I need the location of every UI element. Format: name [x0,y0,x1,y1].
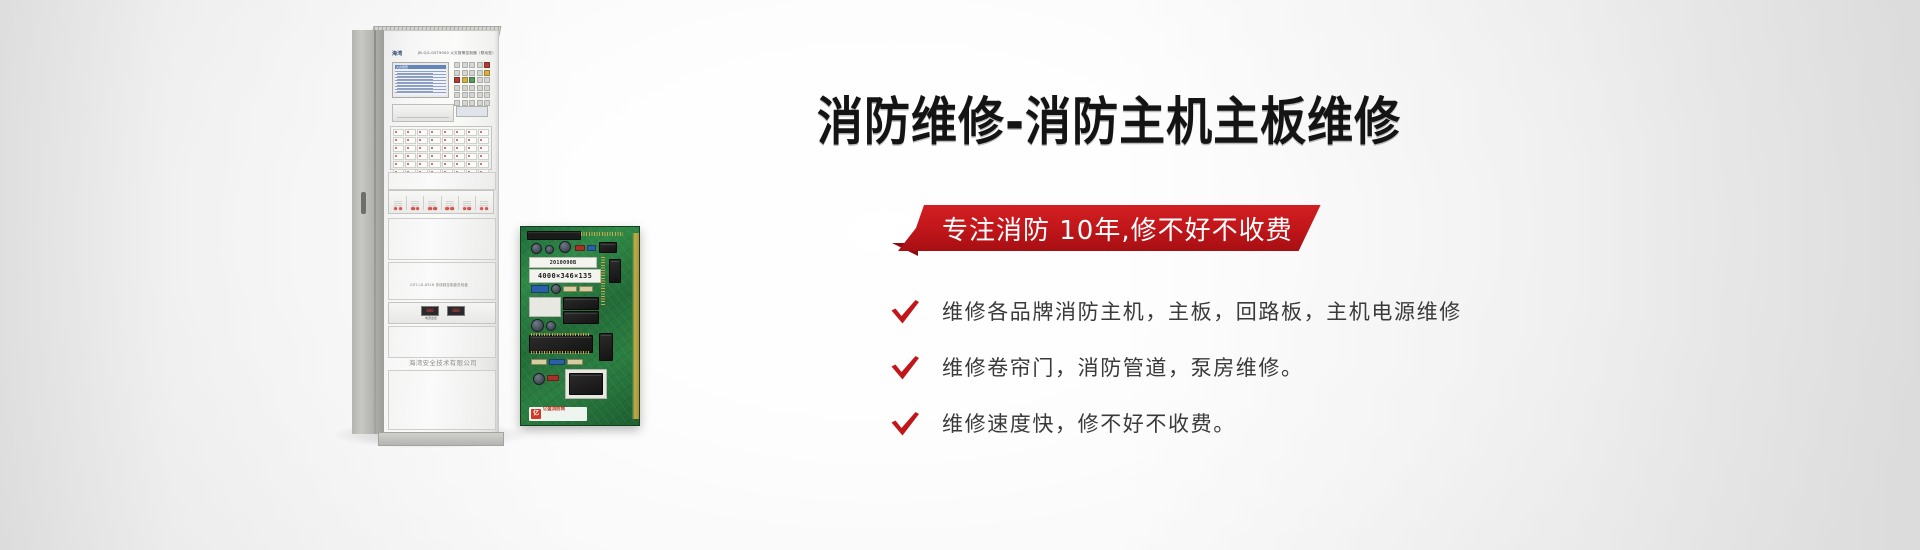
feature-list: 维修各品牌消防主机，主板，回路板，主机电源维修 维修卷帘门，消防管道，泵房维修。… [890,296,1650,464]
tagline-ribbon: 专注消防 10年,修不好不收费 [898,205,1321,251]
promo-content: 消防维修-消防主机主板维修 专注消防 10年,修不好不收费 维修各品牌消防主机，… [0,0,1920,550]
check-icon [890,299,920,325]
check-icon [890,355,920,381]
tagline-text: 专注消防 10年,修不好不收费 [942,210,1293,247]
list-item-label: 维修卷帘门，消防管道，泵房维修。 [942,358,1304,379]
list-item-label: 维修各品牌消防主机，主板，回路板，主机电源维修 [942,302,1462,323]
list-item-label: 维修速度快，修不好不收费。 [942,414,1236,435]
page-title: 消防维修-消防主机主板维修 [817,96,1401,148]
promo-banner: 海湾 JB-QG-GST9000 火灾报警控制器（联动型） 火灾报警 [0,0,1920,550]
check-icon [890,411,920,437]
list-item: 维修速度快，修不好不收费。 [890,408,1650,440]
list-item: 维修各品牌消防主机，主板，回路板，主机电源维修 [890,296,1650,328]
list-item: 维修卷帘门，消防管道，泵房维修。 [890,352,1650,384]
